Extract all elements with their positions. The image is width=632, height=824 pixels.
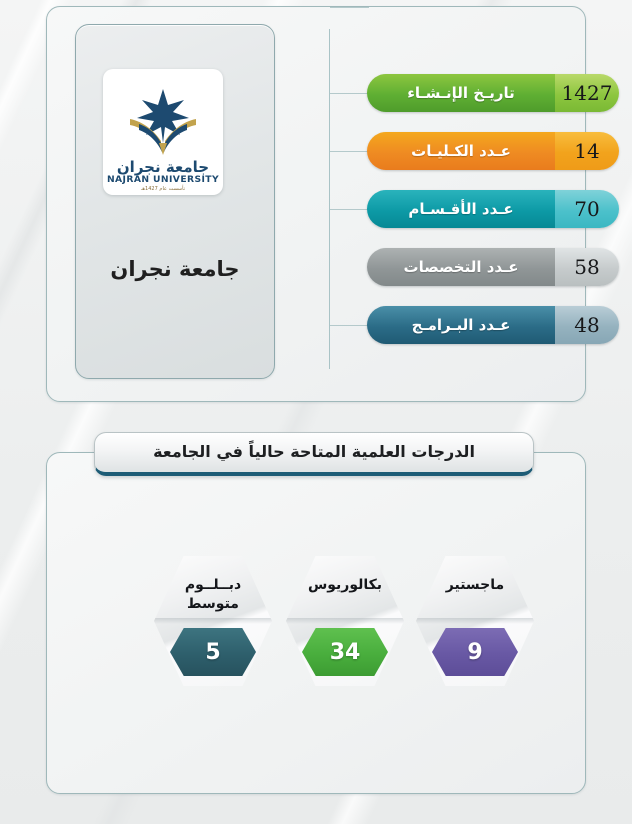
najran-university-logo-icon: جامعة نجران NAJRAN UNIVERSITY تأسست عام …	[103, 69, 223, 195]
university-name: جامعة نجران	[76, 257, 274, 281]
stat-label: عـدد التخصصات	[367, 248, 555, 286]
stat-label: عـدد البـرامـج	[367, 306, 555, 344]
degree-name: بكالوريوس	[294, 576, 396, 595]
degree-count: 9	[467, 640, 482, 665]
university-overview-panel: جامعة نجران NAJRAN UNIVERSITY تأسست عام …	[46, 6, 586, 402]
degrees-section-banner: الدرجات العلمية المتاحة حالياً في الجامع…	[94, 432, 534, 476]
connector-rail	[329, 29, 330, 369]
connector-stub-5	[330, 325, 369, 326]
degree-count-badge: 34	[302, 628, 388, 676]
svg-text:NAJRAN UNIVERSITY: NAJRAN UNIVERSITY	[107, 174, 219, 185]
connector-stub-4	[330, 7, 369, 8]
stat-value: 70	[555, 190, 619, 228]
stat-bar-departments-count[interactable]: عـدد الأقـسـام 70	[367, 190, 619, 228]
degrees-hexagon-row: ماجستير 9 بكالوريوس 34 دبــلــوم متوسط 5	[46, 556, 586, 706]
degree-count: 34	[330, 640, 361, 665]
degree-name: ماجستير	[424, 576, 526, 595]
connector-stub-1	[330, 93, 369, 94]
degree-hexagon-bachelor[interactable]: بكالوريوس 34	[286, 556, 404, 686]
stat-value: 58	[555, 248, 619, 286]
degree-count-badge: 9	[432, 628, 518, 676]
degree-name: دبــلــوم متوسط	[162, 576, 264, 614]
stat-value: 14	[555, 132, 619, 170]
university-logo-tile: جامعة نجران NAJRAN UNIVERSITY تأسست عام …	[103, 69, 223, 195]
degree-count: 5	[205, 640, 220, 665]
stat-label: تاريـخ الإنـشـاء	[367, 74, 555, 112]
university-logo-card: جامعة نجران NAJRAN UNIVERSITY تأسست عام …	[75, 24, 275, 379]
stat-bar-colleges-count[interactable]: عـدد الكـليـات 14	[367, 132, 619, 170]
stat-value: 48	[555, 306, 619, 344]
degrees-section-title: الدرجات العلمية المتاحة حالياً في الجامع…	[153, 442, 475, 461]
connector-stub-3	[330, 209, 369, 210]
stat-label: عـدد الكـليـات	[367, 132, 555, 170]
degree-hexagon-diploma[interactable]: دبــلــوم متوسط 5	[154, 556, 272, 686]
stat-bar-programs-count[interactable]: عـدد البـرامـج 48	[367, 306, 619, 344]
stat-bar-establishment-date[interactable]: تاريـخ الإنـشـاء 1427	[367, 74, 619, 112]
svg-text:تأسست عام 1427هـ: تأسست عام 1427هـ	[140, 184, 186, 192]
stat-bar-majors-count[interactable]: عـدد التخصصات 58	[367, 248, 619, 286]
connector-stub-2	[330, 151, 369, 152]
stat-value: 1427	[555, 74, 619, 112]
stat-label: عـدد الأقـسـام	[367, 190, 555, 228]
degree-count-badge: 5	[170, 628, 256, 676]
degree-hexagon-masters[interactable]: ماجستير 9	[416, 556, 534, 686]
